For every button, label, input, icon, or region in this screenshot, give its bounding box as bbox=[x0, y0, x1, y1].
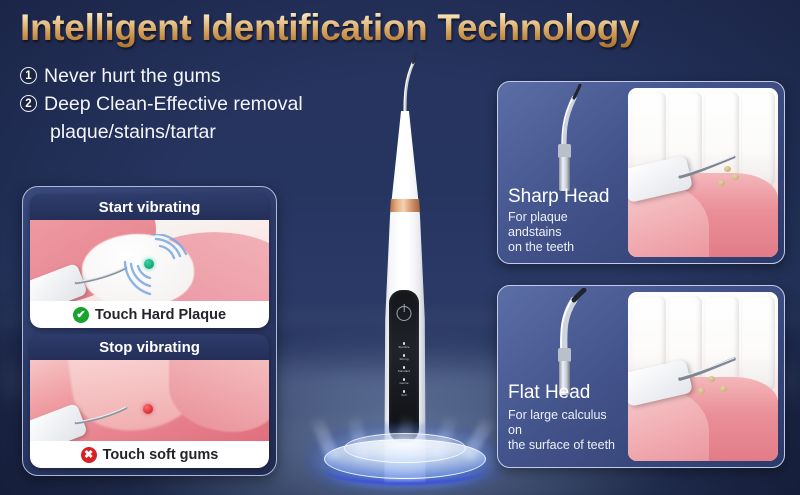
benefit-label-2-cont: plaque/stains/tartar bbox=[20, 118, 365, 146]
flat-head-desc-line2: the surface of teeth bbox=[508, 438, 622, 453]
mouth-closeup bbox=[628, 292, 778, 461]
flat-head-title: Flat Head bbox=[508, 382, 590, 404]
sharp-head-tip-icon bbox=[534, 84, 598, 192]
calculus-deposit bbox=[720, 386, 727, 392]
soft-gum-marker bbox=[143, 404, 153, 414]
start-vibrating-status-label: Touch Hard Plaque bbox=[95, 307, 226, 323]
benefit-label-2: Deep Clean-Effective removal bbox=[44, 90, 303, 118]
soft-gums-illustration bbox=[30, 360, 269, 441]
stop-vibrating-panel: Stop vibrating ✖ Touch soft gums bbox=[30, 334, 269, 468]
mode-indicator-sterilize: Sterilize bbox=[398, 342, 409, 349]
rose-gold-accent-ring bbox=[389, 199, 421, 212]
scaler-probe-icon bbox=[74, 404, 132, 426]
benefit-item-1: 1 Never hurt the gums bbox=[20, 62, 365, 90]
flat-head-tip-icon bbox=[534, 288, 598, 396]
mode-label: Gentle bbox=[399, 382, 408, 385]
stop-vibrating-status: ✖ Touch soft gums bbox=[30, 441, 269, 468]
mouth-scene-soft-gums bbox=[30, 360, 269, 441]
mouth-closeup bbox=[628, 88, 778, 257]
flat-head-info: Flat Head For large calculus on the surf… bbox=[498, 286, 622, 467]
benefit-item-2: 2 Deep Clean-Effective removal bbox=[20, 90, 365, 118]
mode-label: Standard bbox=[398, 370, 411, 373]
gum-shadow-shape bbox=[169, 360, 269, 432]
scaler-tip-icon bbox=[383, 53, 431, 115]
mode-indicator-strong: Strong bbox=[399, 354, 408, 361]
power-icon[interactable] bbox=[397, 306, 412, 321]
start-vibrating-status: ✔ Touch Hard Plaque bbox=[30, 301, 269, 328]
sharp-head-description: For plaque andstains on the teeth bbox=[508, 210, 622, 255]
sharp-head-desc-line1: For plaque andstains bbox=[508, 210, 622, 240]
base-blue-arc bbox=[324, 455, 486, 485]
hard-plaque-illustration bbox=[30, 220, 269, 301]
mode-indicator-list: Sterilize Strong Standard Gentle Soft bbox=[389, 342, 419, 397]
ultrasonic-scaler-device: Sterilize Strong Standard Gentle Soft bbox=[355, 55, 455, 455]
check-icon: ✔ bbox=[73, 307, 89, 323]
mode-label: Soft bbox=[401, 394, 407, 397]
mode-indicator-gentle: Gentle bbox=[399, 378, 408, 385]
sharp-head-card: Sharp Head For plaque andstains on the t… bbox=[497, 81, 785, 264]
mouth-scene-hard-plaque bbox=[30, 220, 269, 301]
vibration-feedback-card: Start vibrating bbox=[22, 186, 277, 476]
hard-plaque-marker bbox=[144, 259, 154, 269]
benefit-number-1: 1 bbox=[20, 67, 37, 84]
flat-head-card: Flat Head For large calculus on the surf… bbox=[497, 285, 785, 468]
benefit-number-2: 2 bbox=[20, 95, 37, 112]
mode-indicator-standard: Standard bbox=[398, 366, 411, 373]
glowing-pedestal-base bbox=[300, 405, 510, 495]
start-vibrating-header: Start vibrating bbox=[30, 194, 269, 220]
sonic-wave-icon bbox=[122, 234, 192, 300]
flat-head-description: For large calculus on the surface of tee… bbox=[508, 408, 622, 453]
scaler-probe-icon bbox=[676, 355, 738, 385]
mode-indicator-soft: Soft bbox=[401, 390, 407, 397]
stop-vibrating-header: Stop vibrating bbox=[30, 334, 269, 360]
sharp-head-usage-photo bbox=[628, 88, 778, 257]
scaler-probe-icon bbox=[676, 151, 738, 181]
mode-label: Strong bbox=[399, 358, 408, 361]
benefit-label-1: Never hurt the gums bbox=[44, 62, 221, 90]
mode-label: Sterilize bbox=[398, 346, 409, 349]
stop-vibrating-status-label: Touch soft gums bbox=[103, 447, 219, 463]
start-vibrating-panel: Start vibrating bbox=[30, 194, 269, 328]
cross-icon: ✖ bbox=[81, 447, 97, 463]
product-infographic: Intelligent Identification Technology 1 … bbox=[0, 0, 800, 495]
calculus-deposit bbox=[698, 388, 705, 394]
flat-head-usage-photo bbox=[628, 292, 778, 461]
page-title: Intelligent Identification Technology bbox=[20, 7, 639, 49]
flat-head-desc-line1: For large calculus on bbox=[508, 408, 622, 438]
sharp-head-info: Sharp Head For plaque andstains on the t… bbox=[498, 82, 622, 263]
sharp-head-title: Sharp Head bbox=[508, 186, 609, 208]
sharp-head-desc-line2: on the teeth bbox=[508, 240, 622, 255]
benefits-list: 1 Never hurt the gums 2 Deep Clean-Effec… bbox=[20, 62, 365, 146]
